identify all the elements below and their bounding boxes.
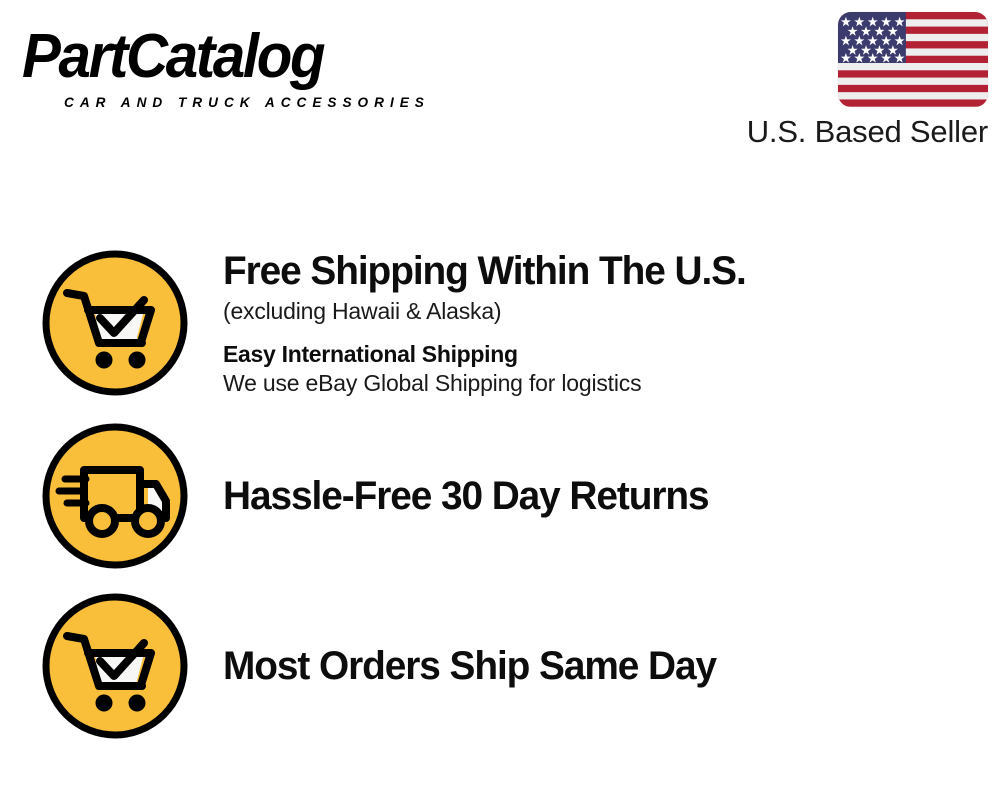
feature-row-free-shipping: Free Shipping Within The U.S. (excluding… bbox=[40, 248, 980, 398]
feature-subtext-international-heading: Easy International Shipping bbox=[223, 340, 980, 368]
feature-text-returns: Hassle-Free 30 Day Returns bbox=[190, 473, 980, 519]
feature-heading: Hassle-Free 30 Day Returns bbox=[223, 473, 957, 519]
feature-text-free-shipping: Free Shipping Within The U.S. (excluding… bbox=[190, 248, 980, 398]
feature-row-same-day: Most Orders Ship Same Day bbox=[40, 591, 980, 741]
shopping-cart-check-icon bbox=[40, 248, 190, 398]
feature-subtext-international-detail: We use eBay Global Shipping for logistic… bbox=[223, 369, 980, 398]
brand-logo: PartCatalog CAR AND TRUCK ACCESSORIES bbox=[22, 26, 492, 110]
us-flag-icon bbox=[838, 12, 988, 107]
delivery-truck-icon bbox=[40, 421, 190, 571]
feature-text-same-day: Most Orders Ship Same Day bbox=[190, 643, 980, 689]
shopping-cart-check-icon bbox=[40, 591, 190, 741]
banner-header: PartCatalog CAR AND TRUCK ACCESSORIES bbox=[0, 0, 1000, 170]
feature-subtext-exclusions: (excluding Hawaii & Alaska) bbox=[223, 296, 980, 326]
feature-heading: Free Shipping Within The U.S. bbox=[223, 248, 957, 294]
us-based-seller-label: U.S. Based Seller bbox=[688, 115, 988, 149]
promo-banner: PartCatalog CAR AND TRUCK ACCESSORIES bbox=[0, 0, 1000, 800]
feature-row-returns: Hassle-Free 30 Day Returns bbox=[40, 421, 980, 571]
us-based-seller-badge: U.S. Based Seller bbox=[688, 12, 988, 149]
logo-tagline: CAR AND TRUCK ACCESSORIES bbox=[64, 94, 479, 110]
logo-wordmark: PartCatalog bbox=[22, 26, 464, 88]
feature-heading: Most Orders Ship Same Day bbox=[223, 643, 957, 689]
